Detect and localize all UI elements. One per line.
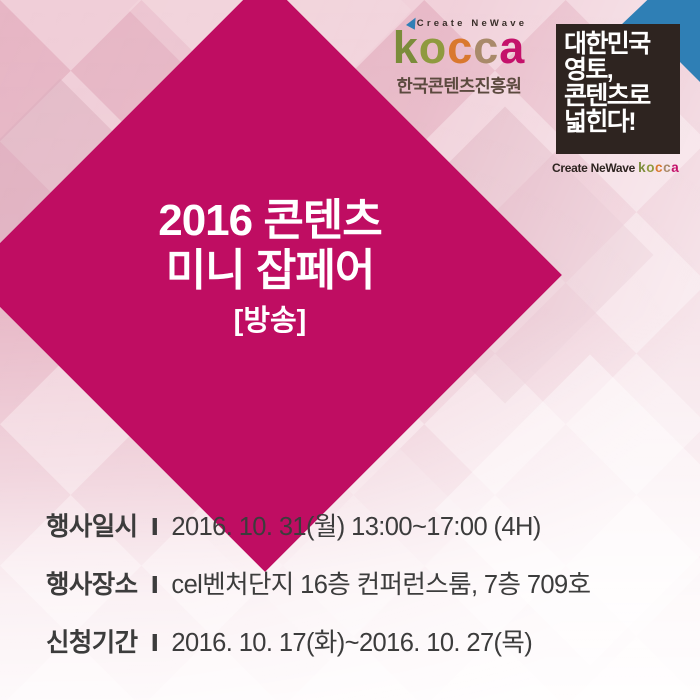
kocca-letter-a: a [499,25,525,70]
kocca-letter-k: k [393,25,419,70]
info-row-date: 행사일시 Ⅰ 2016. 10. 31(월) 13:00~17:00 (4H) [46,506,590,543]
info-row-venue: 행사장소 Ⅰ cel벤처단지 16층 컨퍼런스룸, 7층 709호 [46,564,590,601]
info-value-date: 2016. 10. 31(월) 13:00~17:00 (4H) [171,506,540,543]
info-label-date: 행사일시 [46,506,137,543]
slogan-line-2: 영토, [564,57,674,83]
poster-root: Create NeWave kocca 한국콘텐츠진흥원 대한민국 영토, 콘텐… [0,0,700,700]
kocca-letter-c1: c [447,25,473,70]
badge-wordmark-letter-o: o [646,160,655,175]
kocca-wordmark: kocca [374,25,544,70]
info-label-application-period: 신청기간 [46,622,137,659]
badge-wordmark-letter-c: c [663,160,671,175]
slogan-badge: 대한민국 영토, 콘텐츠로 넓힌다! [556,24,680,154]
info-value-venue: cel벤처단지 16층 컨퍼런스룸, 7층 709호 [171,564,590,601]
headline-line-2: 미니 잡페어 [0,246,540,296]
kocca-letter-c2: c [473,25,499,70]
kocca-korean-name: 한국콘텐츠진흥원 [374,73,544,98]
info-row-application-period: 신청기간 Ⅰ 2016. 10. 17(화)~2016. 10. 27(목) [46,622,590,659]
info-separator-1: Ⅰ [150,514,158,541]
kocca-logo: Create NeWave kocca 한국콘텐츠진흥원 [374,18,544,98]
badge-tagline-wordmark: kocca [638,160,679,175]
badge-tagline: Create NeWave kocca [552,160,688,175]
info-separator-3: Ⅰ [150,630,158,657]
headline-subtitle: [방송] [0,305,540,338]
slogan-line-4: 넓힌다! [564,109,674,135]
slogan-line-3: 콘텐츠로 [564,83,674,109]
info-label-venue: 행사장소 [46,564,137,601]
event-info-list: 행사일시 Ⅰ 2016. 10. 31(월) 13:00~17:00 (4H) … [46,506,590,680]
headline-line-1: 2016 콘텐츠 [0,196,540,246]
headline-block: 2016 콘텐츠 미니 잡페어 [방송] [0,196,540,338]
kocca-letter-o: o [419,25,448,70]
badge-tagline-prefix: Create NeWave [552,161,635,175]
info-value-application-period: 2016. 10. 17(화)~2016. 10. 27(목) [171,622,532,659]
info-separator-2: Ⅰ [150,572,158,599]
slogan-line-1: 대한민국 [564,31,674,57]
badge-wordmark-letter-k: k [638,160,646,175]
badge-wordmark-letter-a: a [671,160,679,175]
badge-wordmark-letter-c: c [655,160,663,175]
